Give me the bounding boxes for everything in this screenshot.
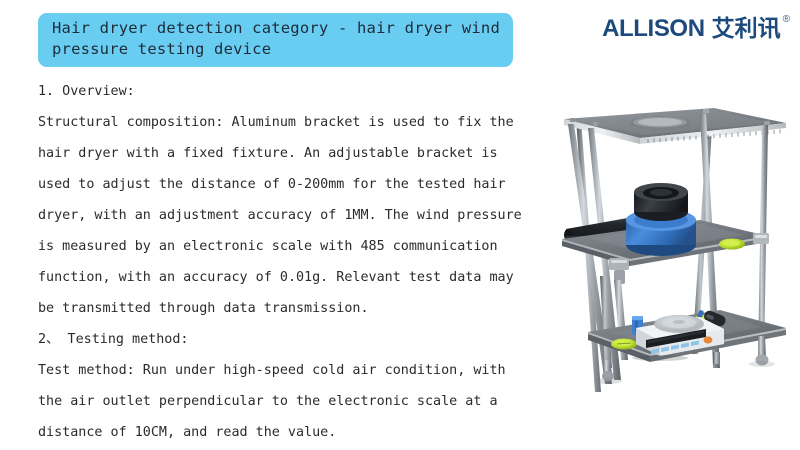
bolt-icon: [764, 121, 770, 126]
document-body: 1. Overview: Structural composition: Alu…: [38, 76, 538, 448]
balance-power-button[interactable]: [704, 336, 713, 343]
page-title-banner: Hair dryer detection category - hair dry…: [38, 13, 513, 67]
logo-wordmark: ALLISON: [602, 16, 705, 42]
paragraph-line: used to adjust the distance of 0-200mm f…: [38, 169, 538, 200]
paragraph-line: distance of 10CM, and read the value.: [38, 417, 538, 448]
page-header: Hair dryer detection category - hair dry…: [0, 0, 800, 72]
paragraph-line: the air outlet perpendicular to the elec…: [38, 386, 538, 417]
paragraph-line: Test method: Run under high-speed cold a…: [38, 355, 538, 386]
bolt-icon: [703, 109, 709, 114]
bolt-icon: [570, 118, 575, 122]
registered-trademark-icon: ®: [783, 14, 790, 25]
paragraph-line: Structural composition: Aluminum bracket…: [38, 107, 538, 138]
level-pad-green: [611, 339, 637, 350]
shadow: [594, 378, 622, 384]
paragraph-testing-heading: 2、 Testing method:: [38, 324, 538, 355]
paragraph-line: function, with an accuracy of 0.01g. Rel…: [38, 262, 538, 293]
paragraph-line: hair dryer with a fixed fixture. An adju…: [38, 138, 538, 169]
product-photo-testing-rack: [548, 92, 798, 422]
paragraph-line: dryer, with an adjustment accuracy of 1M…: [38, 200, 538, 231]
shadow: [749, 361, 775, 367]
level-pad-green: [719, 239, 745, 250]
paragraph-overview-heading: 1. Overview:: [38, 76, 538, 107]
paragraph-line: is measured by an electronic scale with …: [38, 231, 538, 262]
bolt-icon: [593, 122, 598, 126]
paragraph-line: be transmitted through data transmission…: [38, 293, 538, 324]
shelf-top: [564, 108, 786, 144]
fixture-black-nozzle: [634, 183, 688, 221]
company-logo: ALLISON 艾利讯 ®: [602, 16, 790, 42]
logo-chinese-name: 艾利讯: [712, 16, 781, 42]
post-collar-clamp: [753, 233, 769, 244]
